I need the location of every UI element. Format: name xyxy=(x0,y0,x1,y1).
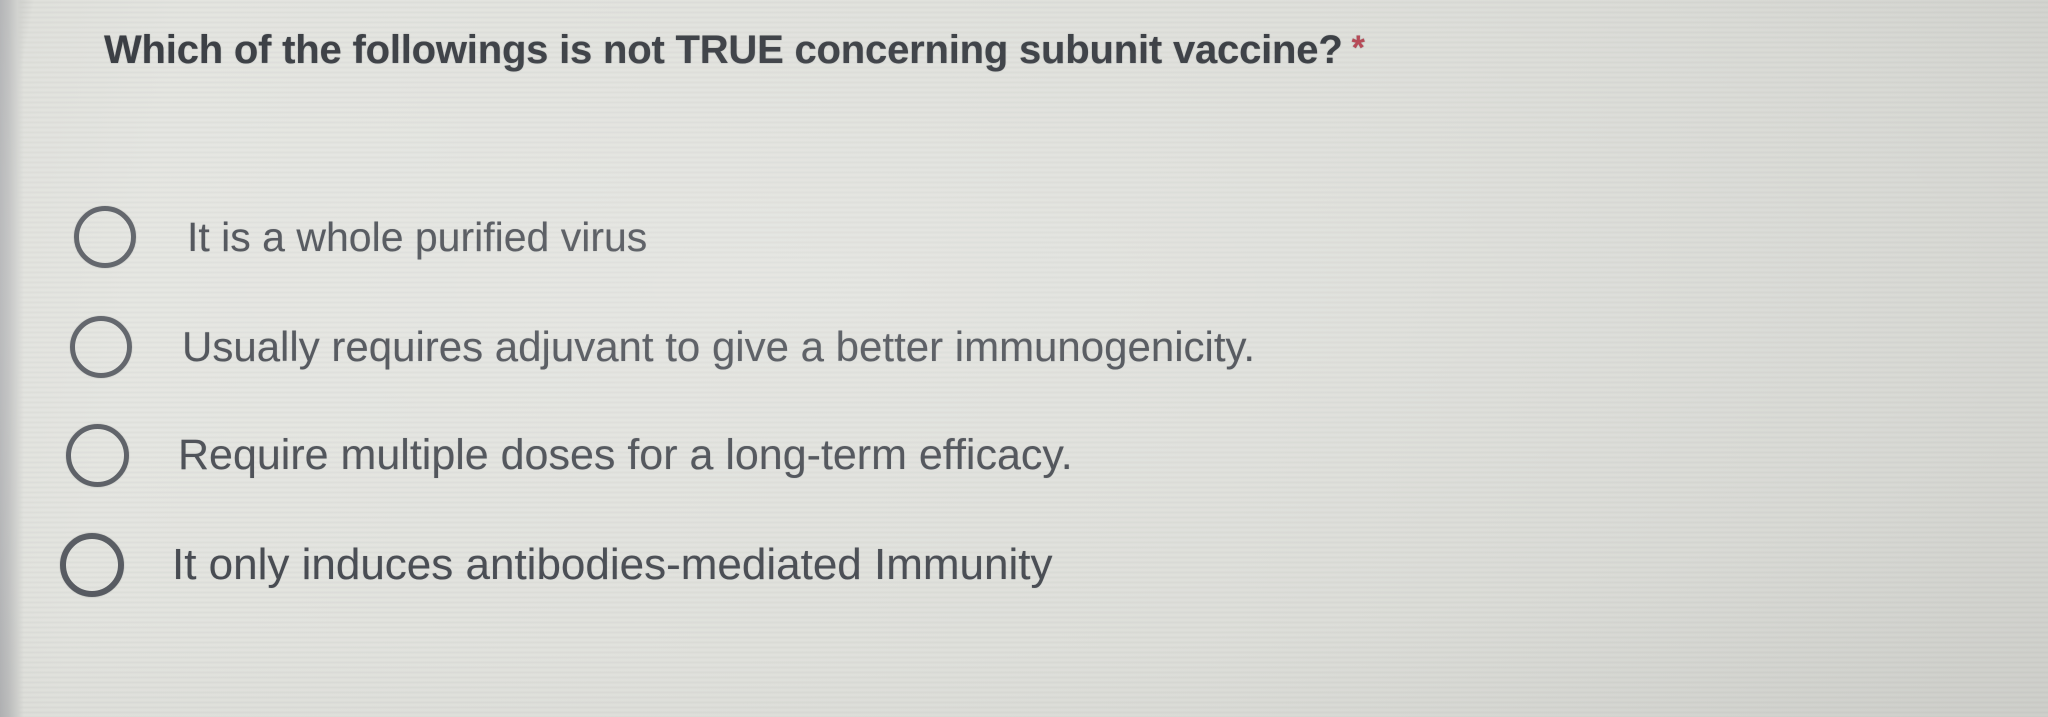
question-text: Which of the followings is not TRUE conc… xyxy=(104,28,1343,72)
page-title: Which of the followings is not TRUE conc… xyxy=(104,28,1365,73)
left-edge-shadow xyxy=(0,0,24,717)
option-row-3[interactable]: It only induces antibodies-mediated Immu… xyxy=(60,533,1052,597)
quiz-question-screen: Which of the followings is not TRUE conc… xyxy=(0,0,2048,717)
radio-button-icon-0[interactable] xyxy=(74,206,136,268)
option-row-2[interactable]: Require multiple doses for a long-term e… xyxy=(66,424,1073,487)
option-row-1[interactable]: Usually requires adjuvant to give a bett… xyxy=(70,316,1255,378)
radio-button-icon-2[interactable] xyxy=(66,424,129,487)
radio-button-icon-1[interactable] xyxy=(70,316,132,378)
required-asterisk: * xyxy=(1352,29,1365,67)
option-label-1: Usually requires adjuvant to give a bett… xyxy=(182,323,1255,371)
option-label-0: It is a whole purified virus xyxy=(187,214,647,261)
option-row-0[interactable]: It is a whole purified virus xyxy=(74,206,647,268)
option-label-2: Require multiple doses for a long-term e… xyxy=(178,431,1073,480)
radio-button-icon-3[interactable] xyxy=(60,533,124,597)
option-label-3: It only induces antibodies-mediated Immu… xyxy=(172,540,1052,590)
